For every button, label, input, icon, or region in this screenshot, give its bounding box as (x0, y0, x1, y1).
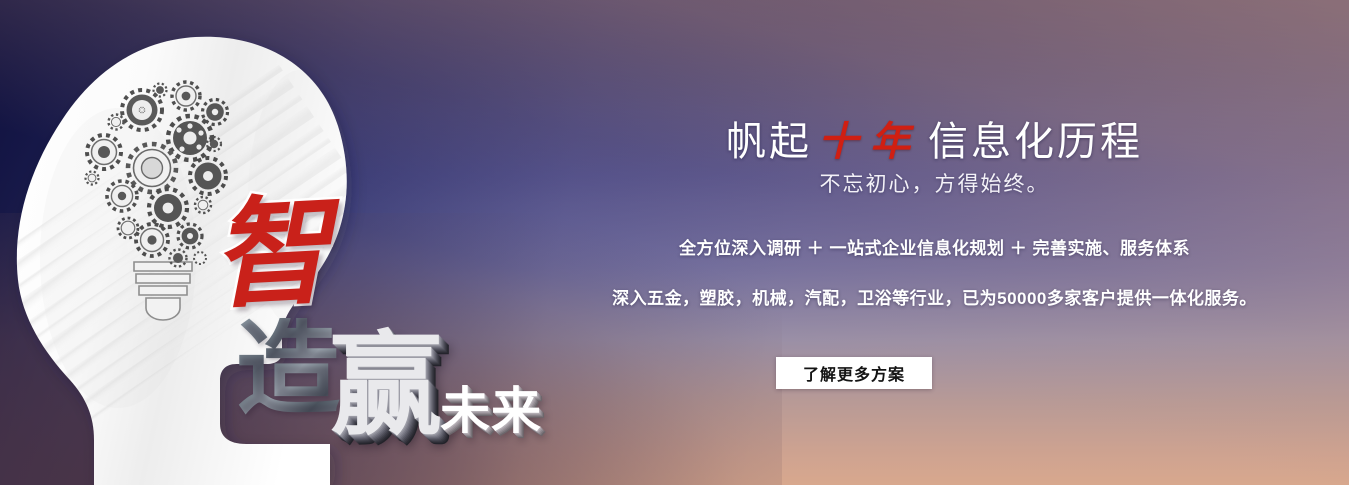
banner-title-accent: 十年 (812, 119, 928, 164)
banner-title-prefix: 帆起 (726, 109, 812, 167)
banner-title: 帆起十年信息化历程 (520, 109, 1349, 167)
banner-bullet-industries: 深入五金，塑胶，机械，汽配，卫浴等行业，已为50000多家客户提供一体化服务。 (520, 284, 1349, 309)
banner-bullet-services: 全方位深入调研 ＋ 一站式企业信息化规划 ＋ 完善实施、服务体系 (520, 234, 1349, 259)
hero-banner: 智 造 赢 未来 帆起十年信息化历程 不忘初心，方得始终。 全方位深入调研 ＋ … (0, 0, 1349, 485)
banner-copy: 帆起十年信息化历程 不忘初心，方得始终。 全方位深入调研 ＋ 一站式企业信息化规… (520, 0, 1349, 485)
banner-tagline: 不忘初心，方得始终。 (520, 168, 1349, 198)
banner-title-suffix: 信息化历程 (928, 109, 1143, 167)
learn-more-button[interactable]: 了解更多方案 (776, 357, 932, 389)
